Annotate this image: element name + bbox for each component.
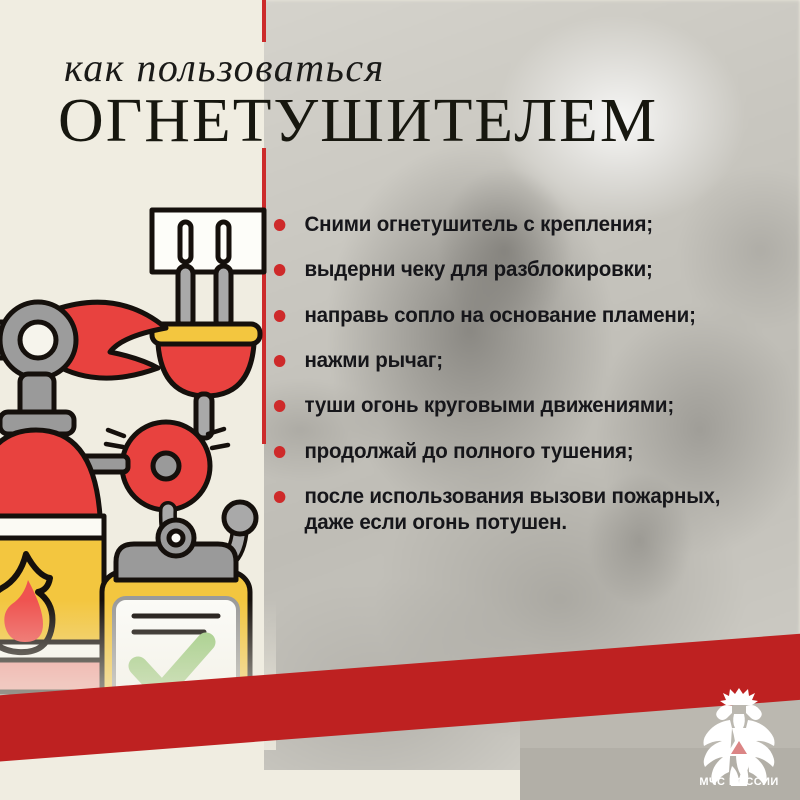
step-text: туши огонь круговыми движениями; — [304, 393, 674, 417]
step-text: выдерни чеку для разблокировки; — [304, 257, 652, 281]
step-text: Сними огнетушитель с крепления; — [304, 212, 652, 236]
list-item: после использования вызови пожарных, даж… — [272, 484, 765, 535]
step-text: нажми рычаг; — [304, 348, 442, 372]
step-text: направь сопло на основание пламени; — [304, 303, 695, 327]
bullet-dot-icon — [274, 400, 285, 412]
emblem-label: МЧС РОССИИ — [696, 776, 782, 788]
bottom-cream-fill — [0, 770, 520, 800]
step-text: после использования вызови пожарных, даж… — [304, 484, 720, 533]
list-item: направь сопло на основание пламени; — [272, 303, 765, 328]
emchs-emblem: МЧС РОССИИ — [696, 684, 782, 788]
step-text: продолжай до полного тушения; — [304, 439, 633, 463]
list-item: продолжай до полного тушения; — [272, 439, 765, 464]
bullet-dot-icon — [274, 491, 285, 503]
double-headed-eagle-icon — [696, 684, 782, 788]
extinguisher-illustration — [0, 198, 276, 728]
list-item: выдерни чеку для разблокировки; — [272, 257, 765, 282]
red-divider-top — [262, 0, 266, 42]
steps-list: Сними огнетушитель с крепления; выдерни … — [272, 212, 788, 535]
cream-top-panel — [0, 0, 264, 180]
bullet-dot-icon — [274, 219, 285, 231]
bullet-dot-icon — [274, 264, 285, 276]
bullet-dot-icon — [274, 446, 285, 458]
bullet-dot-icon — [274, 355, 285, 367]
list-item: нажми рычаг; — [272, 348, 765, 373]
list-item: туши огонь круговыми движениями; — [272, 393, 765, 418]
bullet-dot-icon — [274, 310, 285, 322]
list-item: Сними огнетушитель с крепления; — [272, 212, 765, 237]
poster-root: как пользоваться ОГНЕТУШИТЕЛЕМ Сними огн… — [0, 0, 800, 800]
